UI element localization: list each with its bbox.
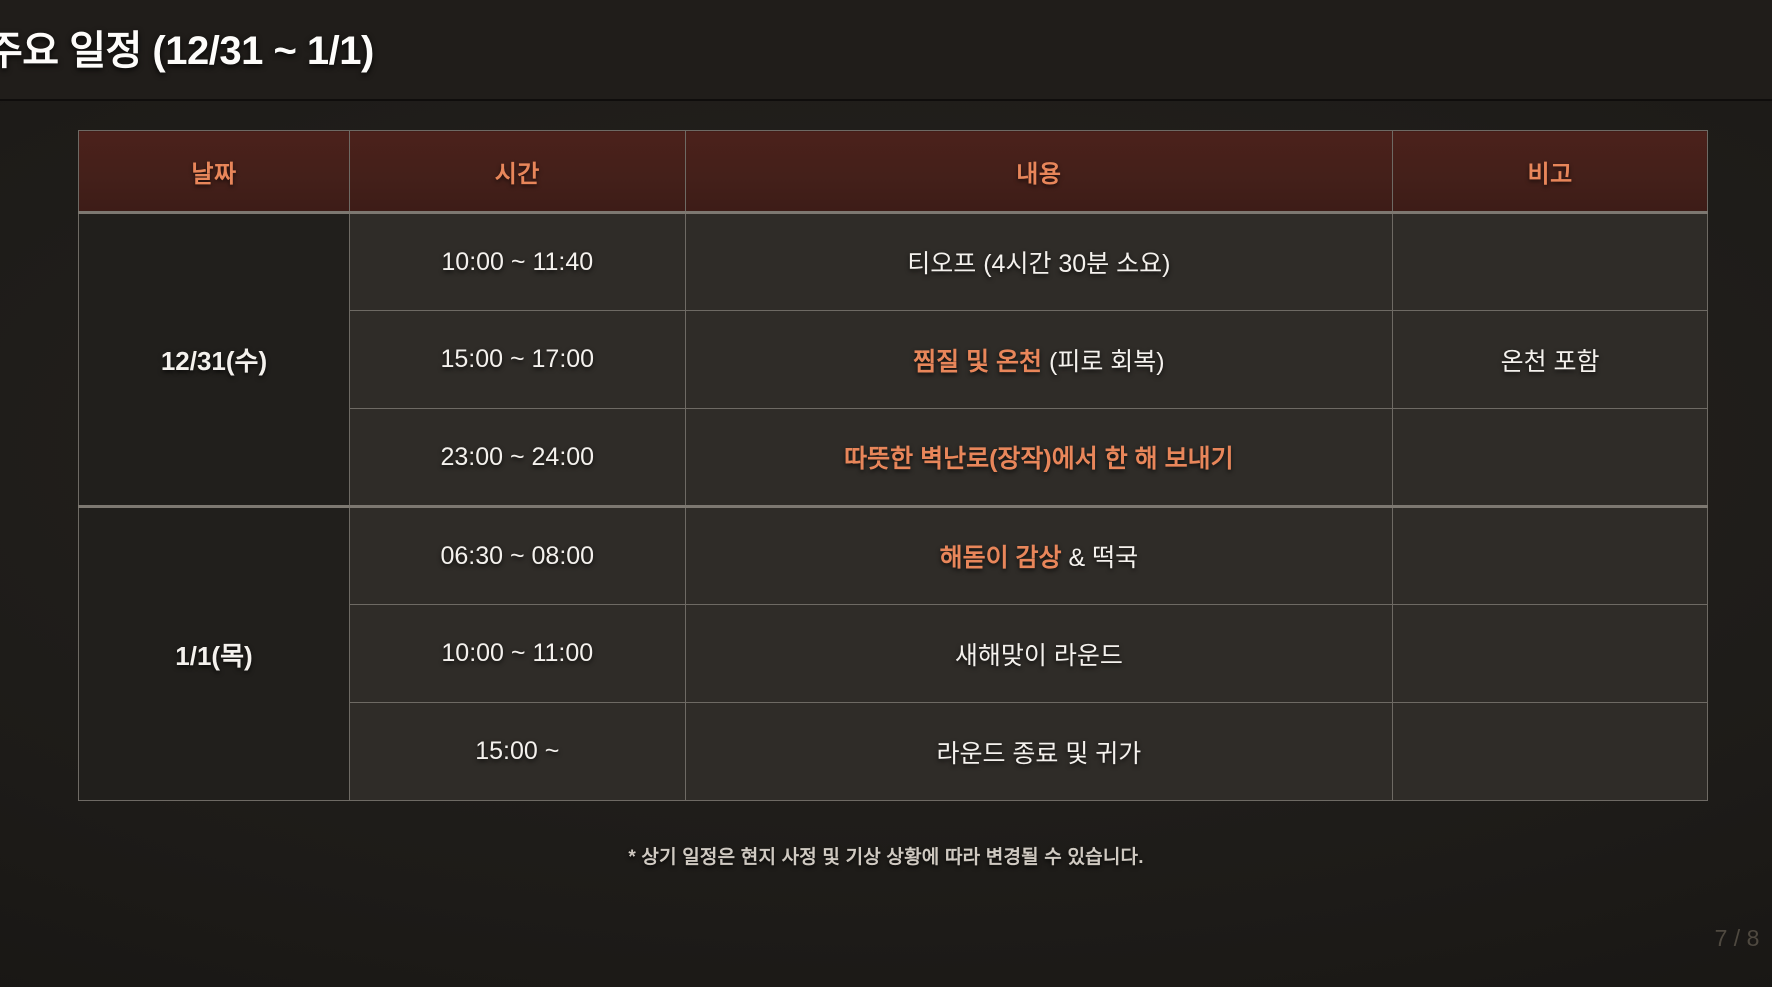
table-body: 12/31(수)10:00 ~ 11:40티오프 (4시간 30분 소요)15:…: [79, 213, 1708, 801]
column-header-time: 시간: [349, 131, 685, 213]
cell-detail-plain: 라운드 종료 및 귀가: [936, 740, 1141, 768]
cell-detail-highlight: 찜질 및 온천: [913, 348, 1042, 376]
cell-detail: 찜질 및 온천 (피로 회복): [685, 311, 1393, 409]
cell-note: [1393, 507, 1708, 605]
schedule-table-container: 날짜 시간 내용 비고 12/31(수)10:00 ~ 11:40티오프 (4시…: [78, 130, 1708, 801]
schedule-table: 날짜 시간 내용 비고 12/31(수)10:00 ~ 11:40티오프 (4시…: [78, 130, 1708, 801]
table-header: 날짜 시간 내용 비고: [79, 131, 1708, 213]
cell-detail-plain: (피로 회복): [1042, 348, 1165, 376]
cell-note: [1393, 605, 1708, 703]
table-row: 1/1(목)06:30 ~ 08:00해돋이 감상 & 떡국: [79, 507, 1708, 605]
column-header-note: 비고: [1393, 131, 1708, 213]
cell-time: 10:00 ~ 11:40: [349, 213, 685, 311]
cell-time: 15:00 ~ 17:00: [349, 311, 685, 409]
cell-detail-highlight: 해돋이 감상: [940, 544, 1062, 572]
cell-detail-plain: 티오프 (4시간 30분 소요): [907, 250, 1170, 278]
page-title: 주요 일정 (12/31 ~ 1/1): [0, 18, 374, 76]
slide-canvas: 주요 일정 (12/31 ~ 1/1) 날짜 시간 내용 비고 12/31(수)…: [0, 0, 1772, 987]
slide-title-bar: 주요 일정 (12/31 ~ 1/1): [0, 0, 1772, 100]
column-header-detail: 내용: [685, 131, 1393, 213]
cell-note: [1393, 703, 1708, 801]
cell-detail: 해돋이 감상 & 떡국: [685, 507, 1393, 605]
cell-detail-plain: & 떡국: [1062, 544, 1139, 572]
cell-detail-highlight: 따뜻한 벽난로(장작)에서 한 해 보내기: [844, 445, 1233, 473]
cell-time: 06:30 ~ 08:00: [349, 507, 685, 605]
page-number-indicator: 7 / 8: [1708, 923, 1766, 953]
cell-date: 1/1(목): [79, 507, 350, 801]
cell-time: 10:00 ~ 11:00: [349, 605, 685, 703]
cell-detail: 라운드 종료 및 귀가: [685, 703, 1393, 801]
cell-detail-plain: 새해맞이 라운드: [955, 642, 1123, 670]
table-header-row: 날짜 시간 내용 비고: [79, 131, 1708, 213]
footnote-text: * 상기 일정은 현지 사정 및 기상 상황에 따라 변경될 수 있습니다.: [0, 842, 1772, 869]
cell-detail: 따뜻한 벽난로(장작)에서 한 해 보내기: [685, 409, 1393, 507]
column-header-date: 날짜: [79, 131, 350, 213]
cell-note: [1393, 409, 1708, 507]
cell-detail: 티오프 (4시간 30분 소요): [685, 213, 1393, 311]
cell-time: 23:00 ~ 24:00: [349, 409, 685, 507]
cell-date: 12/31(수): [79, 213, 350, 507]
table-row: 12/31(수)10:00 ~ 11:40티오프 (4시간 30분 소요): [79, 213, 1708, 311]
cell-note: [1393, 213, 1708, 311]
cell-detail: 새해맞이 라운드: [685, 605, 1393, 703]
cell-time: 15:00 ~: [349, 703, 685, 801]
cell-note: 온천 포함: [1393, 311, 1708, 409]
